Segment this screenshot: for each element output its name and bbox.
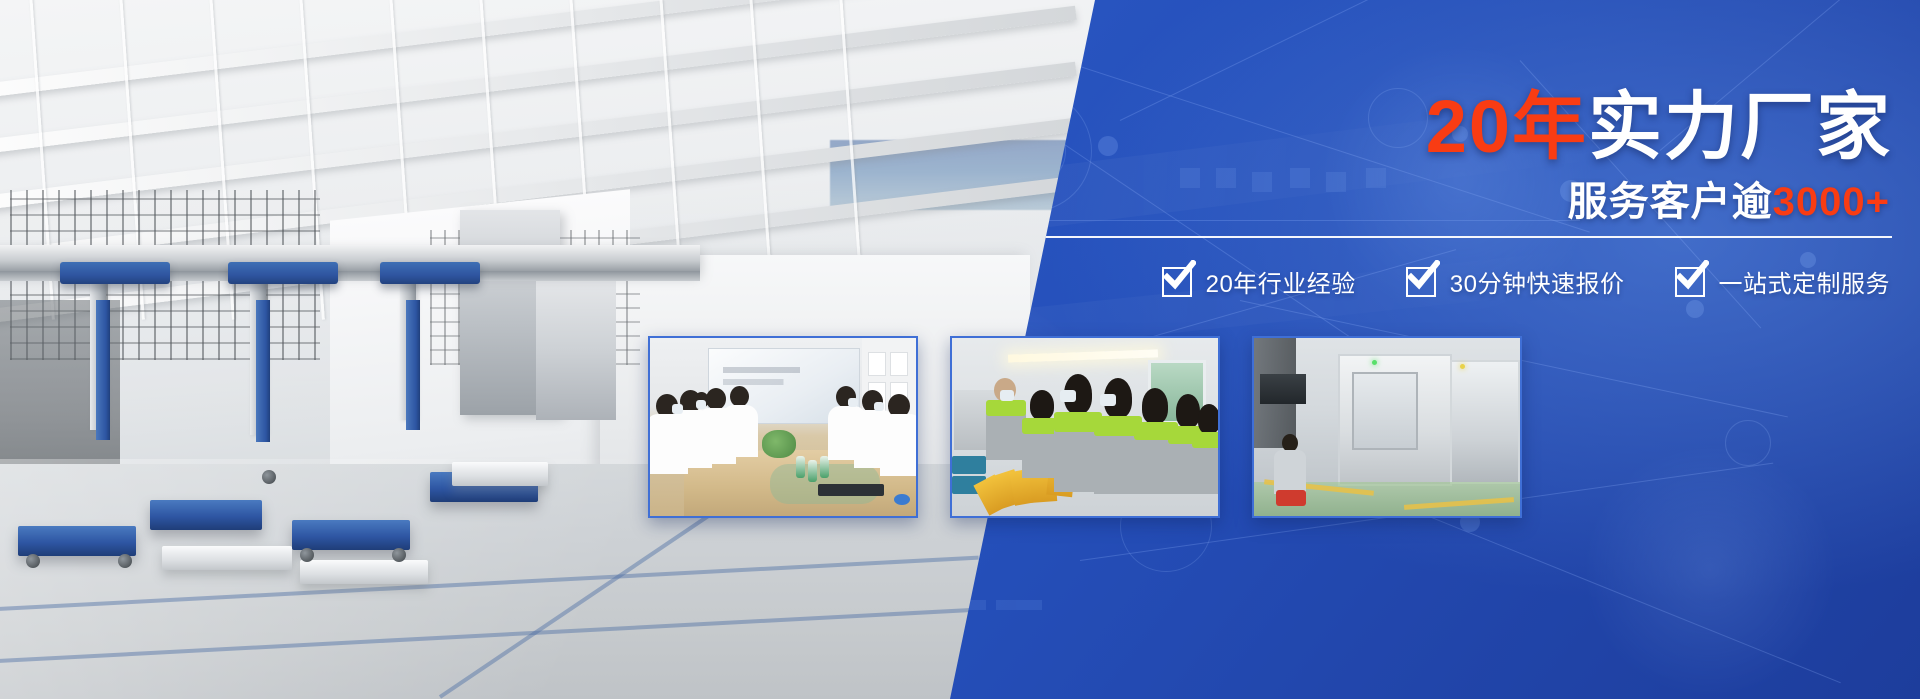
cart-wheel: [26, 554, 40, 568]
pallet-tray: [452, 462, 548, 486]
checkbox-checked-icon: [1675, 267, 1705, 297]
thumbnail-strip: [648, 336, 1522, 518]
headline: 20年实力厂家: [1426, 90, 1892, 164]
face-mask: [1000, 390, 1014, 401]
water-bottle: [808, 460, 817, 482]
cnc-machine-secondary: [1450, 360, 1520, 484]
red-stool: [1276, 490, 1306, 506]
worker-hair: [1198, 404, 1220, 434]
status-led: [1372, 360, 1377, 365]
table-plant: [762, 430, 796, 458]
status-led: [1460, 364, 1465, 369]
subheadline-prefix: 服务客户逾: [1568, 180, 1773, 224]
operator-body: [1274, 450, 1306, 494]
ceiling-light: [1008, 349, 1158, 362]
cart-wheel: [118, 554, 132, 568]
subheadline-highlight: 3000+: [1773, 180, 1890, 224]
pallet-tray: [162, 546, 292, 570]
uniform-green-trim: [986, 400, 1026, 416]
face-mask: [696, 400, 706, 409]
agv-cart: [18, 526, 136, 556]
feature-label: 30分钟快速报价: [1450, 264, 1625, 299]
face-mask: [1060, 390, 1076, 402]
assembly-line-workers-photo[interactable]: [950, 336, 1220, 518]
face-mask: [672, 404, 683, 414]
worker-hair: [1176, 394, 1200, 428]
wall-poster: [890, 352, 908, 376]
attendee-head: [730, 386, 749, 407]
pallet-tray: [300, 560, 428, 584]
hero-banner: 20年实力厂家 服务客户逾3000+ 20年行业经验 30分钟快速报价: [0, 0, 1920, 699]
face-mask: [874, 402, 884, 411]
checkbox-checked-icon: [1406, 267, 1436, 297]
uniform-green-trim: [1192, 432, 1220, 448]
agv-cart: [292, 520, 410, 550]
attendee-body: [880, 414, 918, 476]
attendee-head: [706, 388, 726, 410]
subheadline: 服务客户逾3000+: [1568, 182, 1890, 222]
feature-label: 20年行业经验: [1206, 264, 1356, 299]
cart-wheel: [262, 470, 276, 484]
face-mask: [1100, 394, 1116, 406]
keyboard: [818, 484, 884, 496]
attendee-body: [722, 405, 758, 457]
parts-crate: [952, 456, 986, 474]
face-mask: [848, 398, 858, 407]
cnc-machine-main: [1338, 354, 1452, 486]
headline-highlight: 20年: [1426, 85, 1588, 168]
checkbox-checked-icon: [1162, 267, 1192, 297]
robot-arm-column: [256, 300, 270, 442]
cart-wheel: [300, 548, 314, 562]
conveyor-blue-segment: [228, 262, 338, 284]
feature-list: 20年行业经验 30分钟快速报价 一站式定制服务: [1162, 264, 1890, 299]
control-panel: [1260, 374, 1306, 404]
headline-rest: 实力厂家: [1588, 85, 1892, 168]
cnc-workshop-photo[interactable]: [1252, 336, 1522, 518]
feature-item-quotation[interactable]: 30分钟快速报价: [1406, 264, 1625, 299]
feature-item-customization[interactable]: 一站式定制服务: [1675, 264, 1891, 299]
agv-cart: [150, 500, 262, 530]
worker-hair: [1030, 390, 1054, 420]
mouse: [894, 494, 910, 505]
conveyor-blue-segment: [60, 262, 170, 284]
cart-wheel: [392, 548, 406, 562]
meeting-room-training-photo[interactable]: [648, 336, 918, 518]
feature-label: 一站式定制服务: [1719, 264, 1891, 299]
robot-arm-column: [406, 300, 420, 430]
worker-hair: [1142, 388, 1168, 424]
conveyor-blue-segment: [380, 262, 480, 284]
wall-poster: [868, 352, 886, 376]
robot-arm-column: [96, 300, 110, 440]
feature-item-experience[interactable]: 20年行业经验: [1162, 264, 1356, 299]
water-bottle: [796, 456, 805, 478]
